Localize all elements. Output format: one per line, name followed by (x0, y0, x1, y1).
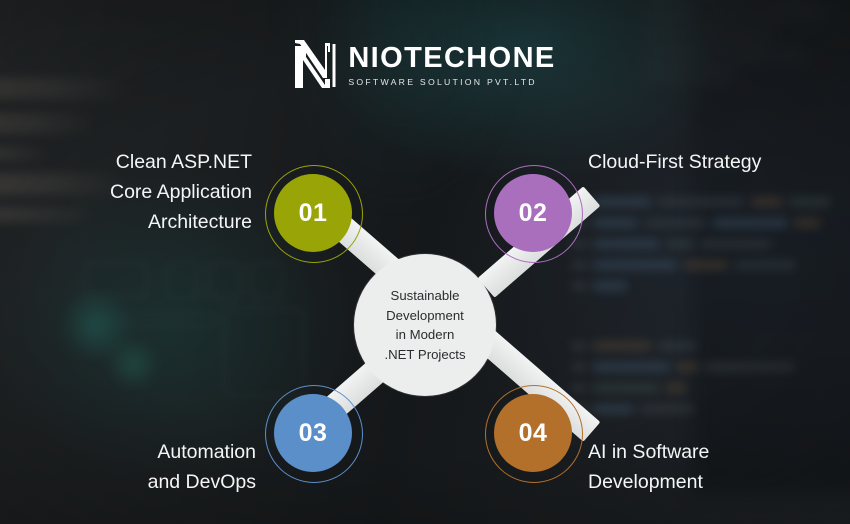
center-topic-text: Sustainable Development in Modern .NET P… (384, 286, 465, 364)
node-label-01-line-3: Architecture (0, 207, 252, 237)
node-label-04-line-2: Development (588, 467, 838, 497)
node-label-04: AI in Software Development (588, 437, 838, 497)
node-number-02: 02 (519, 199, 548, 228)
center-topic-circle: Sustainable Development in Modern .NET P… (354, 254, 496, 396)
center-topic-line-1: Sustainable (384, 286, 465, 306)
node-label-01: Clean ASP.NET Core Application Architect… (0, 147, 252, 237)
node-circle-04[interactable]: 04 (494, 394, 572, 472)
center-topic-line-2: Development (384, 306, 465, 326)
node-circle-02[interactable]: 02 (494, 174, 572, 252)
node-number-03: 03 (299, 419, 328, 448)
node-label-03-line-2: and DevOps (0, 467, 256, 497)
node-label-01-line-1: Clean ASP.NET (0, 147, 252, 177)
node-number-04: 04 (519, 419, 548, 448)
node-label-03-line-1: Automation (0, 437, 256, 467)
node-label-02: Cloud-First Strategy (588, 147, 838, 177)
node-label-03: Automation and DevOps (0, 437, 256, 497)
node-label-01-line-2: Core Application (0, 177, 252, 207)
node-label-02-line-1: Cloud-First Strategy (588, 147, 838, 177)
center-topic-line-3: in Modern (384, 325, 465, 345)
node-number-01: 01 (299, 199, 328, 228)
node-label-04-line-1: AI in Software (588, 437, 838, 467)
node-circle-03[interactable]: 03 (274, 394, 352, 472)
x-diagram: Sustainable Development in Modern .NET P… (0, 0, 850, 524)
node-circle-01[interactable]: 01 (274, 174, 352, 252)
infographic-canvas: NIOTECHONE SOFTWARE SOLUTION PVT.LTD Sus… (0, 0, 850, 524)
center-topic-line-4: .NET Projects (384, 345, 465, 365)
